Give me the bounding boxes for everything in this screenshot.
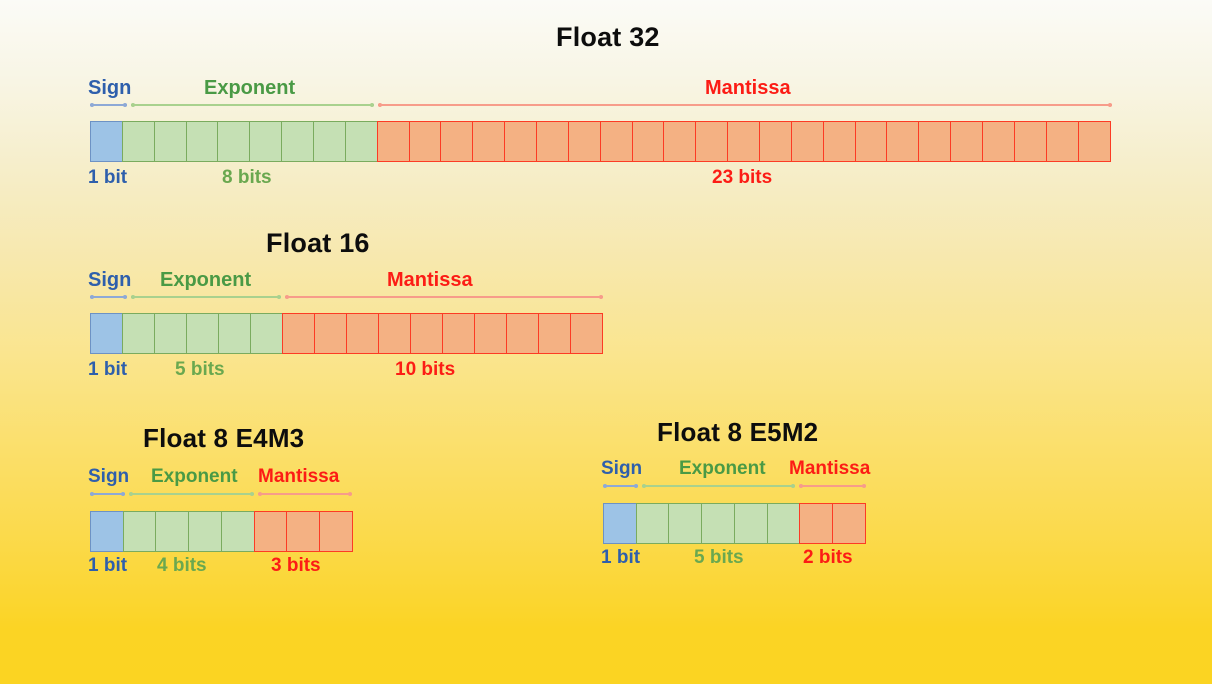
bracket-mantissa-float32 [378, 104, 1112, 106]
bit-cell-mantissa [504, 121, 537, 162]
segment-label-sign-float16: Sign [88, 270, 131, 290]
bracket-sign-float32 [90, 104, 127, 106]
format-title-float8-e5m2: Float 8 E5M2 [657, 417, 818, 448]
bits-label-exponent-float8-e4m3: 4 bits [157, 556, 207, 575]
bit-cell-exponent [281, 121, 314, 162]
bit-cell-sign [90, 511, 124, 552]
bit-cell-mantissa [472, 121, 505, 162]
bit-cell-mantissa [918, 121, 951, 162]
bit-cell-mantissa [286, 511, 320, 552]
bit-cell-exponent [313, 121, 346, 162]
bits-label-mantissa-float8-e4m3: 3 bits [271, 556, 321, 575]
bit-cell-mantissa [799, 503, 833, 544]
bit-cell-mantissa [886, 121, 919, 162]
bracket-sign-float8-e4m3 [90, 493, 125, 495]
bit-bar-float8-e5m2 [603, 503, 866, 544]
bit-cell-exponent [668, 503, 702, 544]
bits-label-mantissa-float16: 10 bits [395, 360, 455, 379]
format-title-float8-e4m3: Float 8 E4M3 [143, 423, 304, 454]
bit-cell-mantissa [536, 121, 569, 162]
bits-label-exponent-float32: 8 bits [222, 168, 272, 187]
bit-cell-mantissa [727, 121, 760, 162]
bit-cell-sign [603, 503, 637, 544]
slide-canvas: Float 32 Sign Exponent Mantissa 1 bit 8 … [0, 0, 1212, 684]
bracket-mantissa-float8-e4m3 [258, 493, 352, 495]
bit-cell-mantissa [1078, 121, 1111, 162]
bit-cell-exponent [345, 121, 378, 162]
bit-cell-exponent [186, 121, 219, 162]
segment-label-mantissa-float32: Mantissa [705, 78, 791, 98]
bit-cell-exponent [221, 511, 255, 552]
bit-cell-mantissa [1046, 121, 1079, 162]
bit-cell-mantissa [632, 121, 665, 162]
bit-cell-exponent [217, 121, 250, 162]
bracket-exponent-float32 [131, 104, 374, 106]
bit-cell-mantissa [442, 313, 475, 354]
bit-cell-exponent [734, 503, 768, 544]
bit-cell-mantissa [254, 511, 288, 552]
bits-label-exponent-float8-e5m2: 5 bits [694, 548, 744, 567]
segment-label-exponent-float8-e5m2: Exponent [679, 459, 766, 478]
bit-cell-mantissa [570, 313, 603, 354]
bit-cell-mantissa [377, 121, 410, 162]
bit-cell-exponent [154, 313, 187, 354]
bit-bar-float16 [90, 313, 603, 354]
bit-cell-mantissa [319, 511, 353, 552]
bit-cell-mantissa [759, 121, 792, 162]
bit-cell-exponent [122, 121, 155, 162]
bit-cell-exponent [636, 503, 670, 544]
bit-cell-mantissa [378, 313, 411, 354]
bracket-sign-float16 [90, 296, 127, 298]
bits-label-sign-float8-e4m3: 1 bit [88, 556, 127, 575]
bit-cell-exponent [122, 313, 155, 354]
bit-cell-mantissa [832, 503, 866, 544]
bit-cell-mantissa [409, 121, 442, 162]
segment-label-sign-float8-e4m3: Sign [88, 467, 129, 486]
bit-cell-mantissa [346, 313, 379, 354]
bit-cell-mantissa [950, 121, 983, 162]
bracket-mantissa-float8-e5m2 [799, 485, 866, 487]
bit-cell-sign [90, 313, 123, 354]
segment-label-sign-float8-e5m2: Sign [601, 459, 642, 478]
bits-label-sign-float32: 1 bit [88, 168, 127, 187]
bit-cell-exponent [154, 121, 187, 162]
bit-cell-exponent [218, 313, 251, 354]
bit-cell-mantissa [410, 313, 443, 354]
bit-cell-mantissa [314, 313, 347, 354]
bit-bar-float32 [90, 121, 1111, 162]
bit-cell-sign [90, 121, 123, 162]
bits-label-mantissa-float32: 23 bits [712, 168, 772, 187]
bit-cell-mantissa [663, 121, 696, 162]
segment-label-exponent-float8-e4m3: Exponent [151, 467, 238, 486]
bit-cell-mantissa [791, 121, 824, 162]
bit-cell-mantissa [568, 121, 601, 162]
bit-cell-mantissa [474, 313, 507, 354]
bit-cell-mantissa [823, 121, 856, 162]
bit-cell-exponent [767, 503, 801, 544]
bit-cell-mantissa [1014, 121, 1047, 162]
bracket-exponent-float16 [131, 296, 281, 298]
bracket-sign-float8-e5m2 [603, 485, 638, 487]
bit-cell-exponent [188, 511, 222, 552]
bit-cell-exponent [155, 511, 189, 552]
segment-label-exponent-float16: Exponent [160, 270, 251, 290]
bracket-exponent-float8-e4m3 [129, 493, 254, 495]
bit-cell-mantissa [695, 121, 728, 162]
segment-label-mantissa-float16: Mantissa [387, 270, 473, 290]
format-title-float16: Float 16 [266, 228, 370, 259]
bits-label-sign-float16: 1 bit [88, 360, 127, 379]
bracket-mantissa-float16 [285, 296, 603, 298]
bit-bar-float8-e4m3 [90, 511, 353, 552]
segment-label-exponent-float32: Exponent [204, 78, 295, 98]
segment-label-mantissa-float8-e5m2: Mantissa [789, 459, 870, 478]
bit-cell-mantissa [600, 121, 633, 162]
bit-cell-mantissa [538, 313, 571, 354]
bits-label-mantissa-float8-e5m2: 2 bits [803, 548, 853, 567]
segment-label-sign-float32: Sign [88, 78, 131, 98]
bits-label-exponent-float16: 5 bits [175, 360, 225, 379]
bits-label-sign-float8-e5m2: 1 bit [601, 548, 640, 567]
segment-label-mantissa-float8-e4m3: Mantissa [258, 467, 339, 486]
bit-cell-exponent [701, 503, 735, 544]
bit-cell-exponent [123, 511, 157, 552]
bit-cell-mantissa [982, 121, 1015, 162]
bit-cell-mantissa [506, 313, 539, 354]
format-title-float32: Float 32 [556, 22, 660, 53]
bit-cell-mantissa [855, 121, 888, 162]
bit-cell-exponent [250, 313, 283, 354]
bracket-exponent-float8-e5m2 [642, 485, 795, 487]
bit-cell-mantissa [282, 313, 315, 354]
bit-cell-exponent [186, 313, 219, 354]
bit-cell-mantissa [440, 121, 473, 162]
bit-cell-exponent [249, 121, 282, 162]
